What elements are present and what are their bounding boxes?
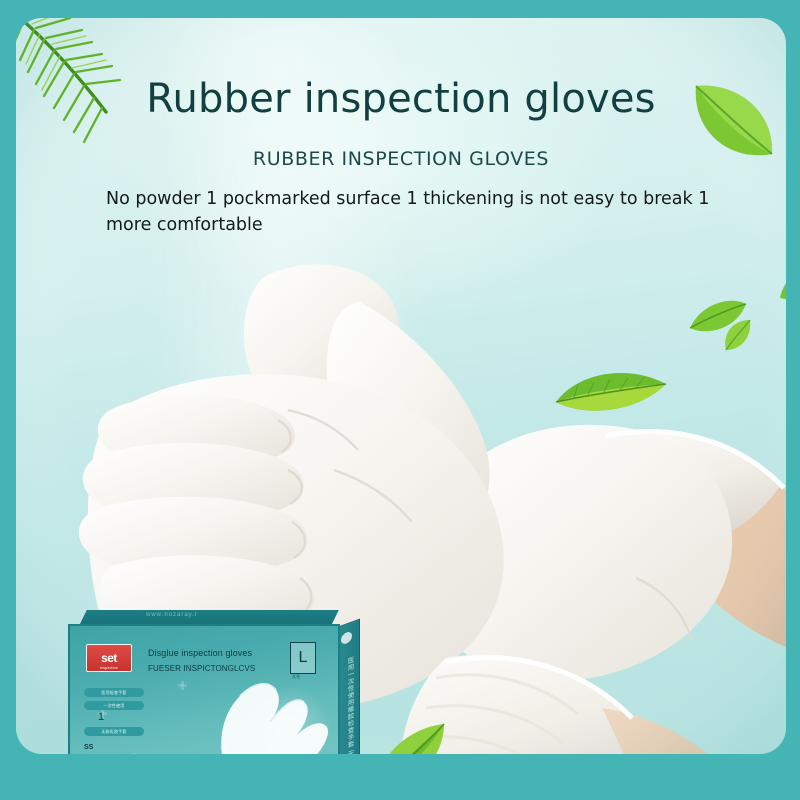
cross-pattern-icon [178,684,187,687]
certification-mark-icon [341,630,352,645]
product-poster: Rubber inspection gloves RUBBER INSPECTI… [0,0,800,800]
product-feature-chip: 无粉乳胶手套 [84,727,144,736]
poster-text-block: Rubber inspection gloves RUBBER INSPECTI… [16,18,786,239]
product-box-side-text: 医用一次性使用橡胶检查手套 无粉 [344,656,354,754]
product-box-lid-text: www.nozaray.r [146,612,198,618]
product-box-front-panel: set inspection Disglue inspection gloves… [68,624,340,754]
brand-logo: set inspection [86,644,132,672]
product-box: www.nozaray.r 医用一次性使用橡胶检查手套 无粉 [60,610,352,754]
product-feature-chip: 一次性使用 [84,701,144,710]
size-code: SS [84,744,93,751]
product-box-heading-alt: FUESER INSPICTONGLCVS [148,664,255,673]
product-box-heading-en: Disglue inspection gloves [148,648,252,658]
brand-logo-sub: inspection [100,666,118,670]
poster-inner-panel: Rubber inspection gloves RUBBER INSPECTI… [16,18,786,754]
page-subtitle: RUBBER INSPECTION GLOVES [16,122,786,170]
page-description: No powder 1 pockmarked surface 1 thicken… [16,170,756,239]
page-title: Rubber inspection gloves [16,18,786,122]
glove-illustration-icon [192,660,340,754]
size-badge: L [290,642,316,674]
product-feature-chip: 医用检查手套 [84,688,144,697]
size-badge-sub: 大号 [292,674,300,680]
brand-logo-label: set [101,651,117,665]
product-quantity: 1 [98,711,104,723]
